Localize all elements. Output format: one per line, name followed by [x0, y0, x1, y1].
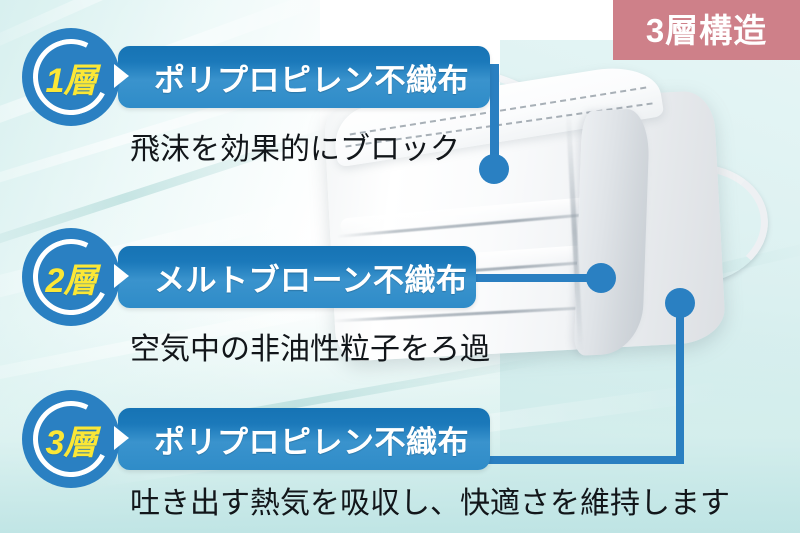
connector-dot-layer-3 [665, 288, 695, 318]
layer-number-badge-1: 1層 [22, 28, 120, 126]
connector-line-layer-1 [490, 64, 499, 160]
arrow-right-icon [114, 426, 129, 450]
layer-number-badge-2: 2層 [22, 228, 120, 326]
layer-title-banner-1: ポリプロピレン不織布 [118, 46, 490, 108]
connector-line-layer-3-horizontal [476, 456, 684, 464]
connector-dot-layer-2 [586, 263, 616, 293]
connector-line-layer-3-vertical [676, 312, 684, 462]
badge-label: 3層構造 [646, 14, 767, 47]
layer-number-label-2: 2層 [22, 228, 120, 326]
layer-title-banner-2: メルトブローン不織布 [118, 246, 476, 308]
layer-number-label-1: 1層 [22, 28, 120, 126]
layer-title-2: メルトブローン不織布 [154, 255, 467, 300]
layer-number-label-3: 3層 [22, 390, 120, 488]
layer-title-3: ポリプロピレン不織布 [154, 417, 469, 462]
layer-description-3: 吐き出す熱気を吸収し、快適さを維持します [130, 478, 730, 522]
layer-title-1: ポリプロピレン不織布 [154, 55, 469, 100]
arrow-right-icon [114, 264, 129, 288]
infographic-canvas: 3層構造 1層 ポリプロピレン不織布 飛沫を効果的にブロック 2層 メルトブロー… [0, 0, 800, 533]
three-layer-structure-badge: 3層構造 [613, 0, 800, 60]
layer-description-2: 空気中の非油性粒子をろ過 [130, 324, 490, 368]
arrow-right-icon [114, 64, 129, 88]
layer-description-1: 飛沫を効果的にブロック [130, 124, 460, 168]
layer-number-badge-3: 3層 [22, 390, 120, 488]
layer-title-banner-3: ポリプロピレン不織布 [118, 408, 490, 470]
connector-dot-layer-1 [479, 154, 509, 184]
mask-side-fold [574, 108, 650, 356]
connector-line-layer-2 [476, 274, 594, 282]
